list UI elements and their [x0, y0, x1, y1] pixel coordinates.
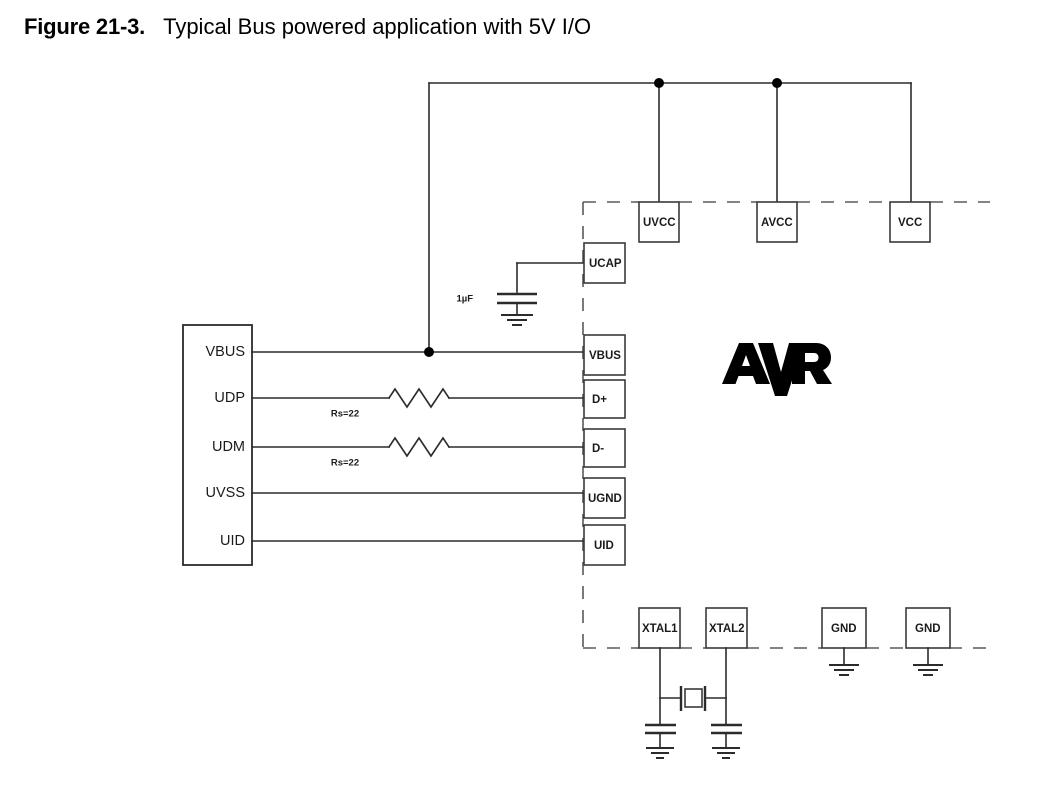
resistor-label-dp: Rs=22 — [331, 409, 359, 420]
ground-symbol-1 — [829, 648, 859, 675]
connector-label-vbus: VBUS — [206, 344, 246, 360]
pin-box-gnd-2[interactable]: GND — [906, 608, 950, 648]
pin-label-uid: UID — [594, 540, 614, 552]
pin-box-ugnd[interactable]: UGND — [584, 478, 625, 518]
pin-label-xtal2: XTAL2 — [709, 623, 745, 635]
pin-label-ugnd: UGND — [588, 493, 622, 505]
pin-box-gnd-1[interactable]: GND — [822, 608, 866, 648]
ground-symbol-2 — [913, 648, 943, 675]
crystal-oscillator-network — [645, 648, 742, 758]
ucap-network: 1µF — [456, 263, 583, 325]
pin-label-ucap: UCAP — [589, 258, 622, 270]
pin-label-avcc: AVCC — [761, 217, 793, 229]
pin-box-xtal2[interactable]: XTAL2 — [706, 608, 747, 648]
capacitor-value-label: 1µF — [456, 294, 473, 305]
pin-box-vcc[interactable]: VCC — [890, 202, 930, 242]
wire-dminus: Rs=22 — [252, 438, 584, 469]
avr-logo: AVR — [722, 341, 832, 399]
pin-box-vbus[interactable]: VBUS — [584, 335, 625, 375]
avr-logo-glyph: AVR — [722, 341, 832, 399]
figure-container: Figure 21-3.Typical Bus powered applicat… — [0, 0, 1042, 808]
pin-box-avcc[interactable]: AVCC — [757, 202, 797, 242]
resistor-label-dm: Rs=22 — [331, 458, 359, 469]
pin-box-ucap[interactable]: UCAP — [584, 243, 625, 283]
pin-label-uvcc: UVCC — [643, 217, 676, 229]
usb-connector-block[interactable]: VBUS UDP UDM UVSS UID — [183, 325, 252, 565]
connector-label-udm: UDM — [212, 439, 245, 455]
wire-vbus — [252, 347, 584, 357]
pin-box-dplus[interactable]: D+ — [584, 380, 625, 418]
pin-label-vbus: VBUS — [589, 350, 621, 362]
pin-label-dminus: D- — [592, 443, 604, 455]
connector-label-udp: UDP — [214, 390, 245, 406]
schematic-drawing: UVCC AVCC VCC 1µF UCAP — [0, 0, 1042, 808]
connector-label-uvss: UVSS — [206, 485, 246, 501]
pin-label-gnd-2: GND — [915, 623, 941, 635]
pin-box-uvcc[interactable]: UVCC — [639, 202, 679, 242]
pin-label-dplus: D+ — [592, 394, 607, 406]
pin-box-dminus[interactable]: D- — [584, 429, 625, 467]
pin-box-xtal1[interactable]: XTAL1 — [639, 608, 680, 648]
mcu-boundary — [583, 202, 990, 648]
pin-label-gnd-1: GND — [831, 623, 857, 635]
connector-label-uid: UID — [220, 533, 245, 549]
pin-box-uid[interactable]: UID — [584, 525, 625, 565]
pin-label-xtal1: XTAL1 — [642, 623, 678, 635]
pin-label-vcc: VCC — [898, 217, 922, 229]
wire-dplus: Rs=22 — [252, 389, 584, 420]
